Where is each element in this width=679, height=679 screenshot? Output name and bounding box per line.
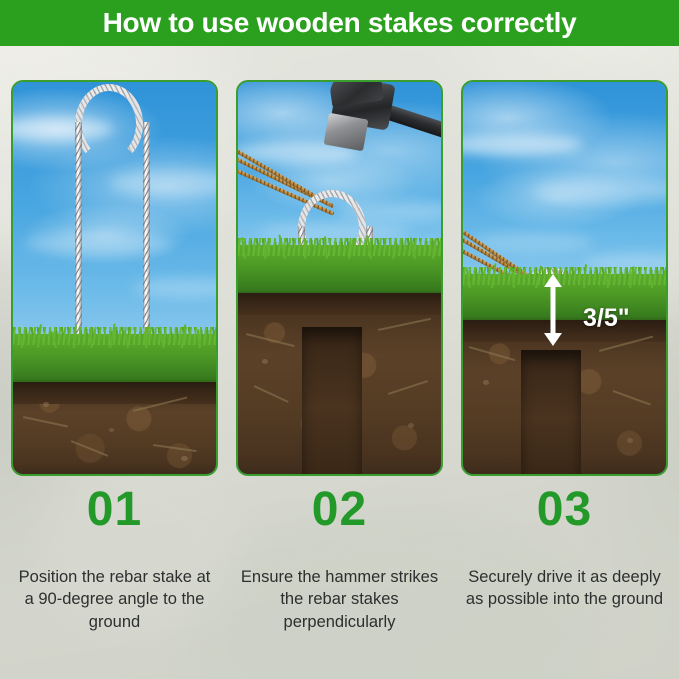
grass-blades bbox=[238, 233, 441, 259]
stake-arc-texture bbox=[75, 84, 143, 164]
soil-trench bbox=[302, 327, 362, 474]
title-bar: How to use wooden stakes correctly bbox=[0, 0, 679, 46]
grass-blade bbox=[73, 325, 77, 348]
step-text-03: Securely drive it as deeply as possible … bbox=[465, 566, 665, 611]
grass-blade bbox=[264, 241, 269, 259]
measurement-label: 3/5" bbox=[583, 304, 630, 333]
soil-speck bbox=[262, 359, 268, 364]
steps-image-row: 3/5" bbox=[0, 80, 679, 476]
soil-root bbox=[378, 318, 431, 331]
step-number-03: 03 bbox=[537, 486, 592, 534]
step-caption-03: 03 Securely drive it as deeply as possib… bbox=[461, 486, 668, 676]
soil-root bbox=[469, 346, 516, 361]
grass-layer bbox=[13, 334, 216, 388]
soil-speck bbox=[109, 428, 114, 432]
grass-blade bbox=[159, 328, 165, 348]
cloud bbox=[461, 134, 583, 156]
grass-blade bbox=[410, 237, 416, 259]
grass-blade bbox=[511, 270, 515, 288]
grass-blade bbox=[241, 237, 246, 259]
grass-blade bbox=[348, 239, 354, 259]
step-text-01: Position the rebar stake at a 90-degree … bbox=[15, 566, 215, 633]
step-panel-03: 3/5" bbox=[461, 80, 668, 476]
soil-root bbox=[23, 416, 68, 428]
soil-root bbox=[613, 390, 651, 406]
soil-speck bbox=[627, 438, 633, 443]
soil-speck bbox=[181, 456, 188, 461]
soil-layer bbox=[238, 293, 441, 474]
grass-blade bbox=[604, 269, 609, 288]
grass-blade bbox=[649, 268, 653, 288]
grass-layer bbox=[238, 245, 441, 299]
soil-layer bbox=[13, 382, 216, 474]
step-panel-02 bbox=[236, 80, 443, 476]
step-caption-01: 01 Position the rebar stake at a 90-degr… bbox=[11, 486, 218, 676]
grass-blade bbox=[304, 240, 308, 259]
grass-blade bbox=[629, 266, 635, 288]
step-panel-01 bbox=[11, 80, 218, 476]
soil-root bbox=[246, 333, 295, 347]
soil-root bbox=[71, 440, 109, 457]
grass-blade bbox=[109, 323, 116, 348]
grass-blade bbox=[432, 239, 436, 259]
step-number-02: 02 bbox=[312, 486, 367, 534]
soil-speck bbox=[408, 423, 414, 428]
soil-root bbox=[388, 380, 429, 395]
grass-blade bbox=[392, 241, 396, 259]
grass-blade bbox=[51, 331, 57, 348]
soil-root bbox=[153, 444, 197, 452]
soil-topsoil-band bbox=[13, 382, 216, 404]
grass-blade bbox=[278, 234, 286, 259]
soil-trench bbox=[521, 350, 581, 474]
grass-blade bbox=[465, 267, 471, 288]
page-title: How to use wooden stakes correctly bbox=[103, 7, 577, 39]
grass-blade bbox=[491, 263, 496, 288]
grass-blade bbox=[197, 329, 201, 348]
grass-blade bbox=[145, 326, 149, 348]
grass-blade bbox=[18, 328, 23, 348]
grass-blade bbox=[366, 235, 372, 259]
arrow-head-down-icon bbox=[544, 333, 562, 346]
grass-blade bbox=[124, 330, 129, 348]
step-caption-02: 02 Ensure the hammer strikes the rebar s… bbox=[236, 486, 443, 676]
hammer-icon bbox=[300, 80, 443, 176]
soil-topsoil-band bbox=[238, 293, 441, 315]
hammer-striking-face bbox=[324, 113, 369, 151]
soil-speck bbox=[483, 380, 489, 385]
cloud bbox=[533, 178, 668, 202]
grass-blade bbox=[37, 324, 42, 348]
measurement-callout bbox=[541, 274, 565, 346]
soil-root bbox=[254, 385, 289, 403]
step-text-02: Ensure the hammer strikes the rebar stak… bbox=[240, 566, 440, 633]
soil-speck bbox=[43, 402, 49, 407]
steps-caption-row: 01 Position the rebar stake at a 90-degr… bbox=[0, 486, 679, 676]
grass-blade bbox=[583, 264, 587, 288]
grass-blade bbox=[181, 324, 186, 348]
grass-blades bbox=[13, 322, 216, 348]
grass-blade bbox=[324, 236, 328, 259]
arrow-shaft bbox=[551, 284, 556, 336]
grass-blade bbox=[89, 329, 93, 348]
step-number-01: 01 bbox=[87, 486, 142, 534]
